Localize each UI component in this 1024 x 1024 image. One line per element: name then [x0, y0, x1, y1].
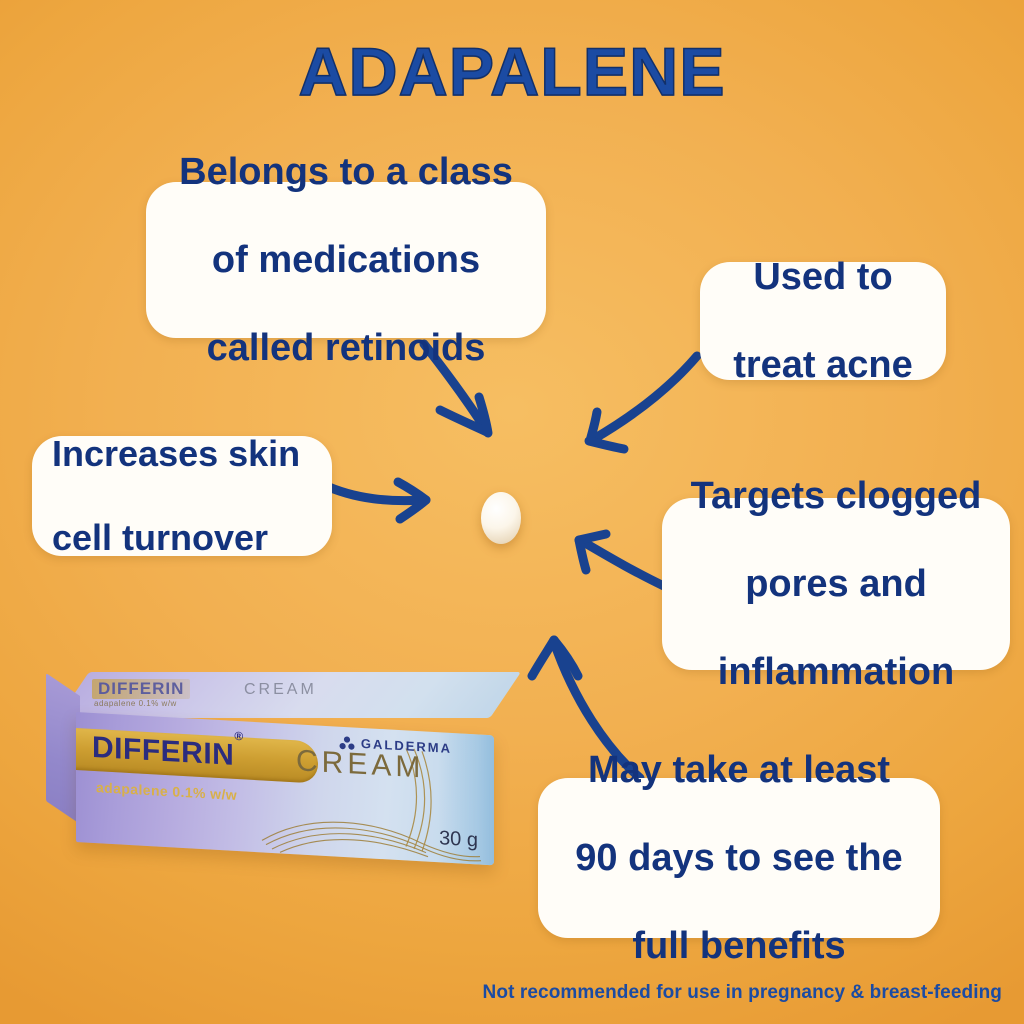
- callout-cell-turnover-line-2: cell turnover: [52, 517, 312, 559]
- package-net-weight: 30 g: [439, 827, 478, 852]
- callout-retinoids-line-3: called retinoids: [166, 326, 526, 370]
- package-front-face: DIFFERIN® CREAM adapalene 0.1% w/w GALDE…: [76, 712, 494, 865]
- infographic-poster: ADAPALENE .ar { fill:none; stroke:#19428…: [0, 0, 1024, 1024]
- callout-retinoids-line-1: Belongs to a class: [166, 150, 526, 194]
- product-package-differin-cream: DIFFERIN CREAM adapalene 0.1% w/w: [46, 672, 502, 854]
- callout-treat-acne-line-2: treat acne: [716, 343, 930, 387]
- package-left-face: [46, 673, 80, 824]
- callout-treat-acne-line-1: Used to: [716, 255, 930, 299]
- package-top-brand: DIFFERIN: [92, 679, 190, 699]
- package-top-form: CREAM: [244, 681, 317, 699]
- page-title: ADAPALENE: [0, 38, 1024, 106]
- callout-90-days: May take at least 90 days to see the ful…: [538, 778, 940, 938]
- galderma-trefoil-icon: [339, 735, 355, 750]
- callout-90-days-line-3: full benefits: [556, 924, 922, 968]
- callout-clogged-pores-line-3: inflammation: [678, 650, 994, 694]
- registered-mark-icon: ®: [234, 729, 243, 744]
- callout-cell-turnover: Increases skin cell turnover: [32, 436, 332, 556]
- arrow-turnover-to-center: [322, 482, 426, 519]
- arrow-clogged-to-center: [579, 534, 668, 588]
- callout-90-days-line-1: May take at least: [556, 748, 922, 792]
- callout-treat-acne: Used to treat acne: [700, 262, 946, 380]
- package-top-face: DIFFERIN CREAM adapalene 0.1% w/w: [58, 672, 521, 718]
- callout-cell-turnover-line-1: Increases skin: [52, 433, 312, 475]
- center-pill-icon: [481, 492, 521, 544]
- disclaimer-text: Not recommended for use in pregnancy & b…: [483, 982, 1002, 1004]
- callout-clogged-pores-line-2: pores and: [678, 562, 994, 606]
- callout-retinoids: Belongs to a class of medications called…: [146, 182, 546, 338]
- callout-clogged-pores-line-1: Targets clogged: [678, 474, 994, 518]
- callout-clogged-pores: Targets clogged pores and inflammation: [662, 498, 1010, 670]
- callout-retinoids-line-2: of medications: [166, 238, 526, 282]
- arrow-treat-acne-to-center: [589, 356, 697, 449]
- callout-90-days-line-2: 90 days to see the: [556, 836, 922, 880]
- package-top-ingredient: adapalene 0.1% w/w: [94, 699, 177, 708]
